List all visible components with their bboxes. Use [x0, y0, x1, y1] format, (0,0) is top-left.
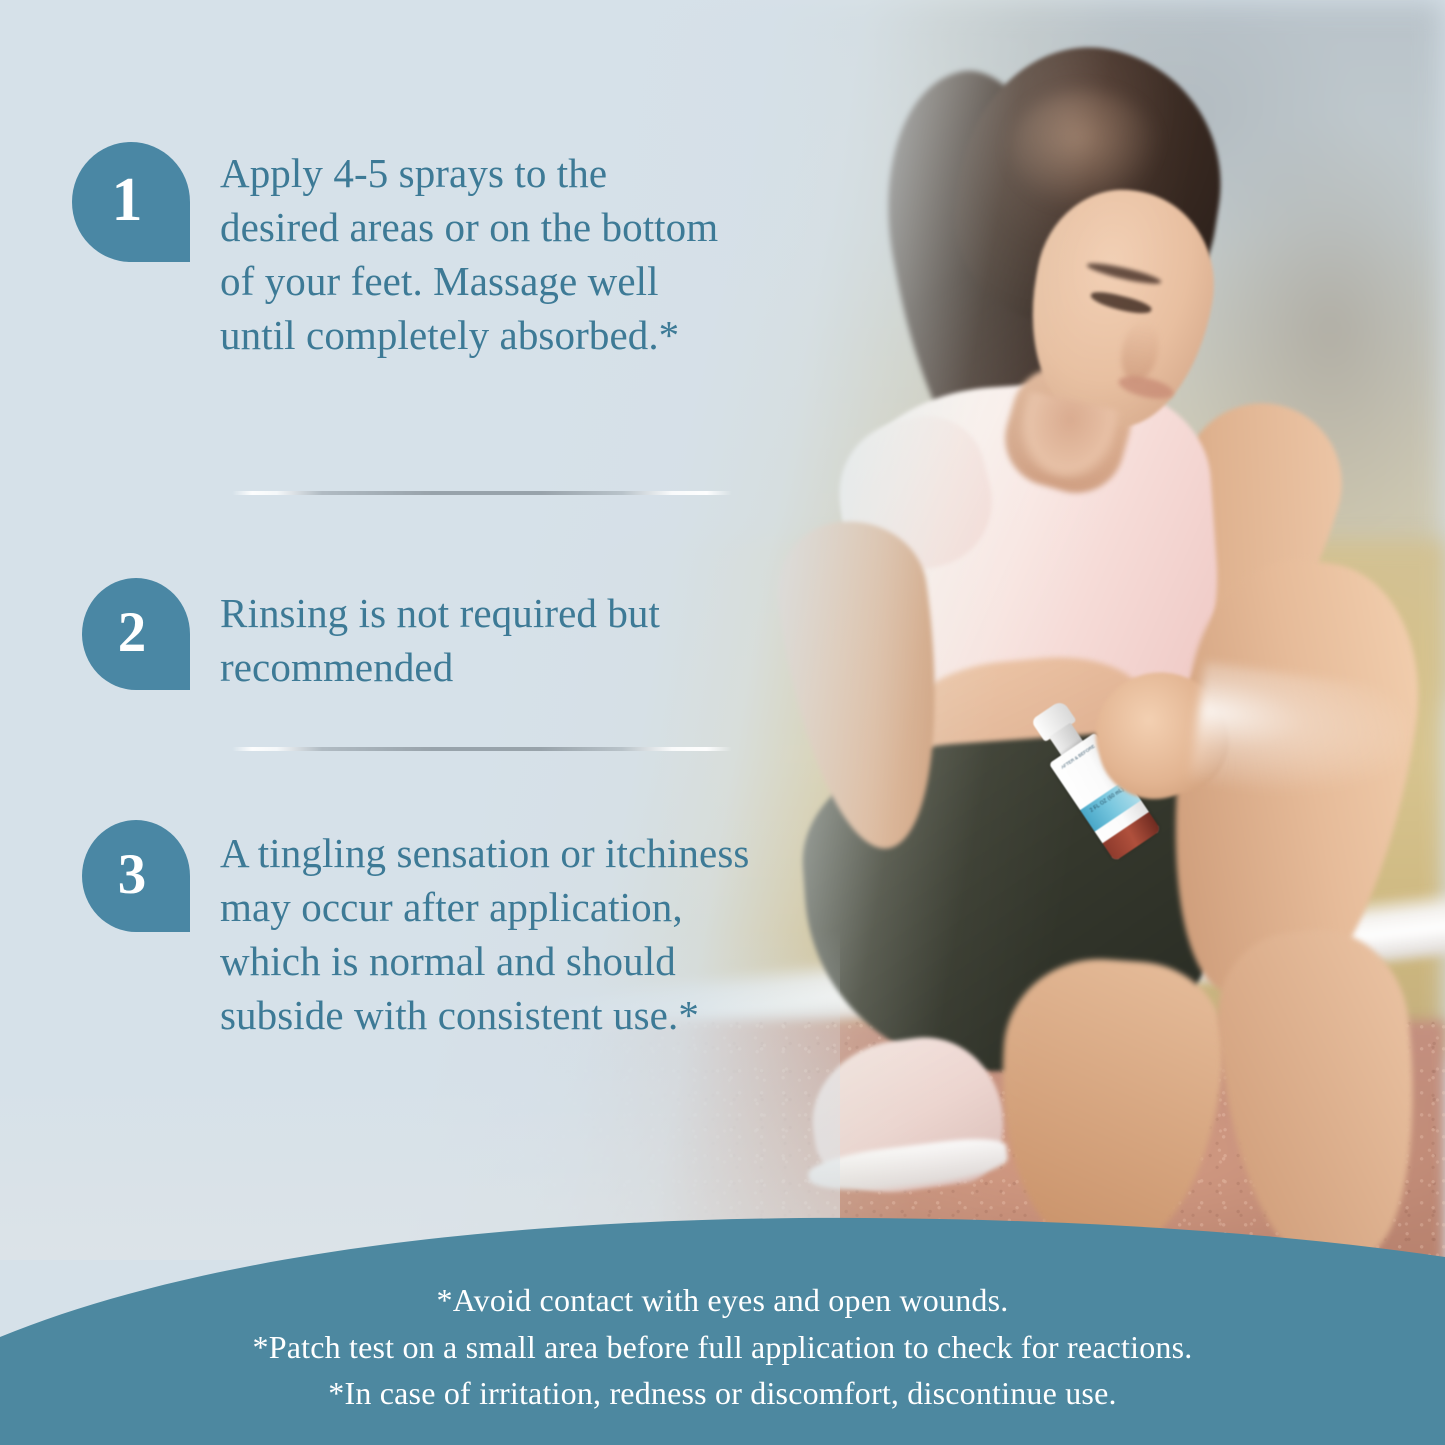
- instruction-graphic: AFTER & BEFORE 2 FL OZ (60 mL) 1 Apply 4…: [0, 0, 1445, 1445]
- footer-line-2: *Patch test on a small area before full …: [40, 1324, 1405, 1371]
- step-text-2: Rinsing is not required but recommended: [190, 578, 740, 694]
- footer-line-3: *In case of irritation, redness or disco…: [40, 1370, 1405, 1417]
- step-badge-3: 3: [82, 820, 190, 932]
- step-number-3: 3: [118, 846, 147, 903]
- footer-line-1: *Avoid contact with eyes and open wounds…: [40, 1277, 1405, 1324]
- footer-disclaimer-band: *Avoid contact with eyes and open wounds…: [0, 1185, 1445, 1445]
- step-number-2: 2: [118, 604, 147, 661]
- step-badge-2: 2: [82, 578, 190, 690]
- step-badge-1: 1: [72, 142, 190, 262]
- step-item-3: 3 A tingling sensation or itchiness may …: [82, 820, 765, 1042]
- step-item-1: 1 Apply 4-5 sprays to the desired areas …: [72, 142, 720, 362]
- step-divider-1: [232, 491, 732, 495]
- step-text-1: Apply 4-5 sprays to the desired areas or…: [190, 142, 720, 362]
- step-number-1: 1: [112, 169, 143, 231]
- step-item-2: 2 Rinsing is not required but recommende…: [82, 578, 740, 694]
- step-divider-2: [232, 747, 732, 751]
- footer-disclaimer-text: *Avoid contact with eyes and open wounds…: [0, 1277, 1445, 1417]
- step-text-3: A tingling sensation or itchiness may oc…: [190, 820, 765, 1042]
